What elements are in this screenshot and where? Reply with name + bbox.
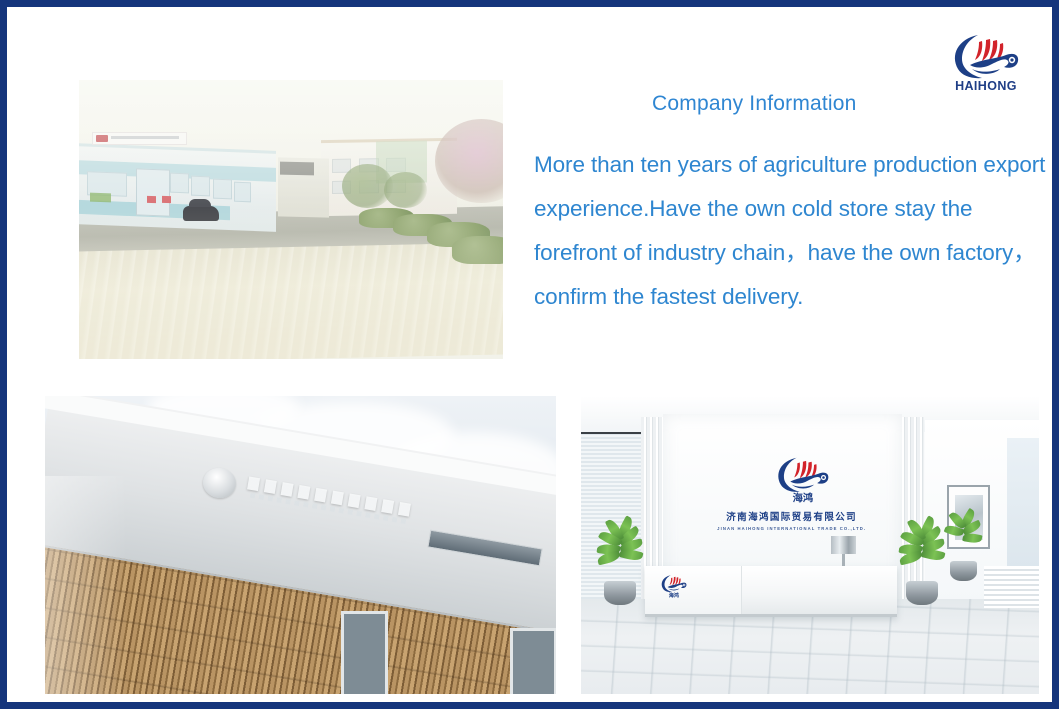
plant-pot [604, 581, 636, 604]
window [1007, 438, 1039, 569]
plant-pot [950, 561, 976, 581]
photo-wash-overlay [79, 80, 503, 359]
potted-plant [943, 515, 984, 581]
warehouse-scene [45, 396, 556, 694]
wall-haihong-logo: 海鸿 [764, 453, 842, 504]
entrance-door [510, 628, 556, 694]
entrance-door [341, 611, 388, 694]
company-description: More than ten years of agriculture produ… [534, 143, 1050, 319]
factory-campus-photo [79, 80, 503, 359]
brand-wordmark: HAIHONG [948, 79, 1024, 93]
office-lobby-scene: 海鸿 济南海鸿国际贸易有限公司 JINAN HAIHONG INTERNATIO… [581, 396, 1039, 694]
staircase [984, 566, 1039, 608]
haihong-logo-mark [948, 29, 1024, 81]
wall-company-name-cn: 济南海鸿国际贸易有限公司 [709, 509, 874, 523]
corner-highlight [45, 476, 127, 694]
plant-pot [906, 581, 938, 604]
wall-company-name-en: JINAN HAIHONG INTERNATIONAL TRADE CO.,LT… [709, 526, 874, 531]
haihong-logo: HAIHONG [948, 29, 1024, 97]
company-information-page: HAIHONG Company Information More than te… [0, 0, 1059, 709]
potted-plant [595, 527, 645, 604]
desk-haihong-logo: 海鸿 [659, 572, 689, 599]
desk-logo-mark: 海鸿 [659, 572, 689, 599]
svg-text:海鸿: 海鸿 [793, 491, 814, 503]
office-lobby-photo: 海鸿 济南海鸿国际贸易有限公司 JINAN HAIHONG INTERNATIO… [581, 396, 1039, 694]
wall-logo-mark: 海鸿 [764, 453, 842, 504]
warehouse-building-photo [45, 396, 556, 694]
svg-text:海鸿: 海鸿 [669, 592, 679, 599]
potted-plant [897, 527, 947, 604]
page-title: Company Information [652, 92, 857, 116]
factory-campus-scene [79, 80, 503, 359]
table-lamp-shade [831, 536, 856, 554]
